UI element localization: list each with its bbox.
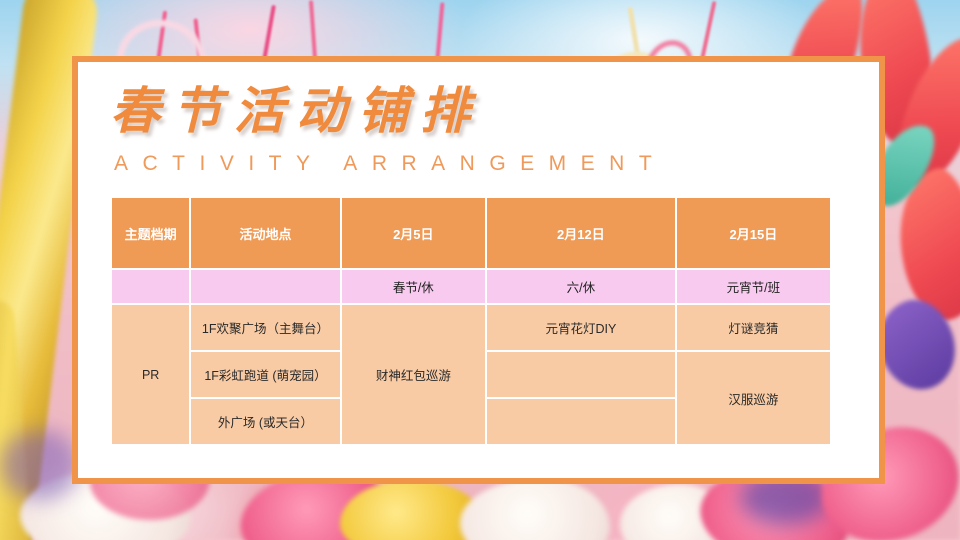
cell-feb12-activity-3 [487, 399, 675, 444]
cell-feb5-activity: 财神红包巡游 [342, 305, 485, 444]
day-status-empty-location [191, 270, 339, 303]
purple-flower-icon [0, 430, 80, 500]
cell-feb12-activity-2 [487, 352, 675, 397]
page-title: 春节活动铺排 [110, 86, 482, 136]
column-header-theme-period: 主题档期 [112, 198, 189, 268]
slide-canvas: 春节活动铺排 ACTIVITY ARRANGEMENT 主题档期 活动地点 2月… [0, 0, 960, 540]
cell-feb12-activity-1: 元宵花灯DIY [487, 305, 675, 350]
cell-location-2: 1F彩虹跑道 (萌宠园） [191, 352, 339, 397]
schedule-table-wrapper: 主题档期 活动地点 2月5日 2月12日 2月15日 春节/休 六/休 [110, 196, 832, 446]
cell-location-3: 外广场 (或天台） [191, 399, 339, 444]
column-header-feb5: 2月5日 [342, 198, 485, 268]
day-status-feb5: 春节/休 [342, 270, 485, 303]
cell-location-1: 1F欢聚广场（主舞台） [191, 305, 339, 350]
day-status-empty-theme [112, 270, 189, 303]
day-status-feb15: 元宵节/班 [677, 270, 830, 303]
day-status-feb12: 六/休 [487, 270, 675, 303]
table-row: PR 1F欢聚广场（主舞台） 财神红包巡游 元宵花灯DIY 灯谜竞猜 [112, 305, 830, 350]
table-head: 主题档期 活动地点 2月5日 2月12日 2月15日 [112, 198, 830, 268]
table-header-row: 主题档期 活动地点 2月5日 2月12日 2月15日 [112, 198, 830, 268]
column-header-feb12: 2月12日 [487, 198, 675, 268]
column-header-location: 活动地点 [191, 198, 339, 268]
cell-category-pr: PR [112, 305, 189, 444]
cell-feb15-activity-1: 灯谜竞猜 [677, 305, 830, 350]
content-card: 春节活动铺排 ACTIVITY ARRANGEMENT 主题档期 活动地点 2月… [72, 56, 885, 484]
schedule-table: 主题档期 活动地点 2月5日 2月12日 2月15日 春节/休 六/休 [110, 196, 832, 446]
table-body: 春节/休 六/休 元宵节/班 PR 1F欢聚广场（主舞台） 财神红包巡游 元宵花… [112, 270, 830, 444]
column-header-feb15: 2月15日 [677, 198, 830, 268]
day-status-row: 春节/休 六/休 元宵节/班 [112, 270, 830, 303]
page-subtitle: ACTIVITY ARRANGEMENT [114, 152, 666, 176]
cell-feb15-activity-2: 汉服巡游 [677, 352, 830, 444]
